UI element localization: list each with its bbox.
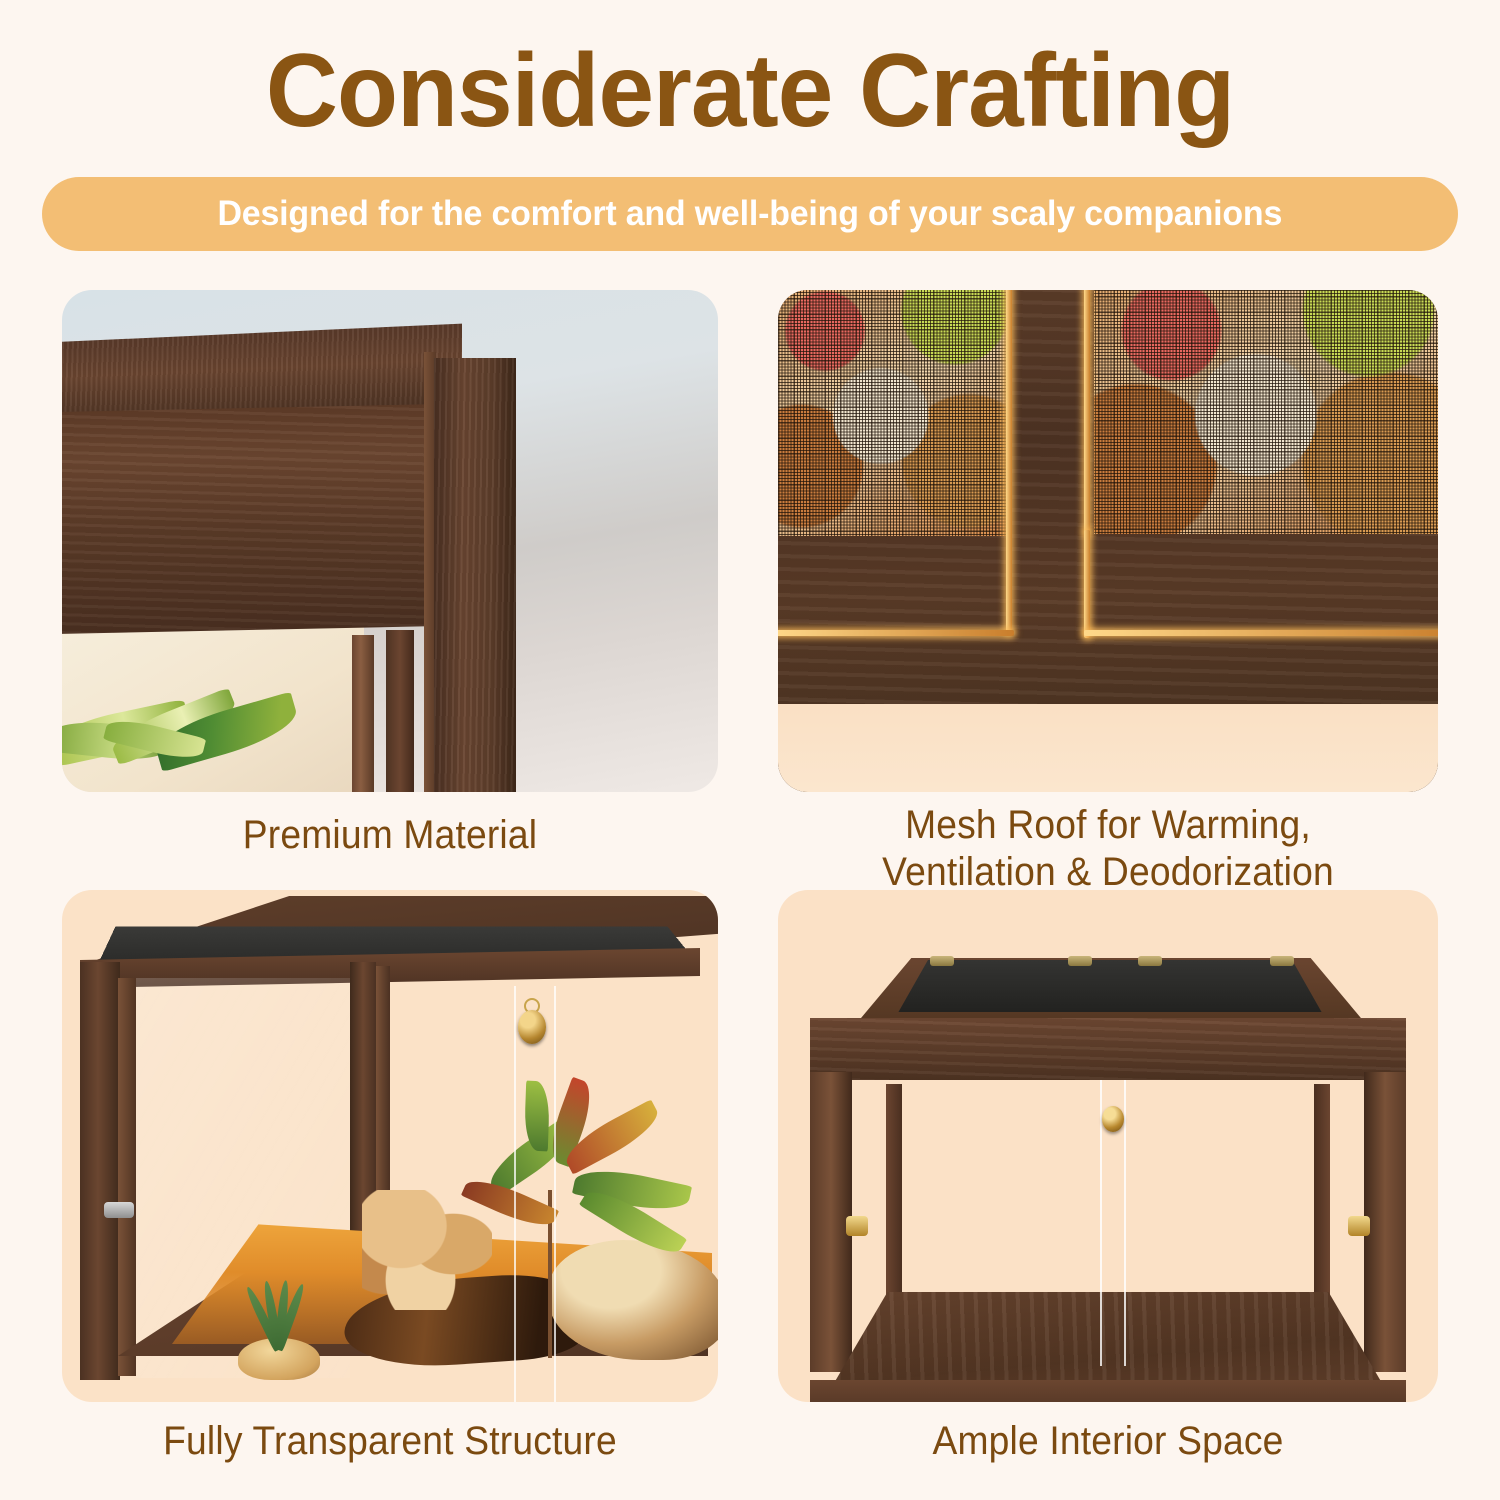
caption-mesh-roof: Mesh Roof for Warming, Ventilation & Deo…: [801, 802, 1415, 896]
brass-latch-left-icon: [846, 1216, 868, 1236]
glow-edge-horizontal: [778, 630, 1014, 636]
photo-foreground-floor: [778, 704, 1438, 792]
hinge-icon: [1270, 956, 1294, 966]
glow-edge-horizontal: [1084, 630, 1438, 636]
feature-card-mesh-roof: Mesh Roof for Warming, Ventilation & Deo…: [778, 290, 1438, 792]
glow-edge-vertical: [1006, 290, 1012, 634]
brass-knob-icon: [518, 1010, 546, 1044]
caption-premium-material: Premium Material: [85, 812, 695, 859]
wood-inner-leg-secondary: [386, 630, 414, 792]
wood-inner-leg: [352, 635, 374, 792]
succulent-plant: [248, 1282, 308, 1364]
hinge-icon: [1138, 956, 1162, 966]
glow-edge-vertical: [1084, 530, 1090, 638]
cabinet-top-front-rail: [810, 1018, 1406, 1080]
glow-edge-vertical: [1084, 290, 1090, 534]
terrarium-left-inner-post: [118, 978, 136, 1376]
terrarium-cabinet: [812, 962, 1404, 1402]
feature-card-transparent-structure: Fully Transparent Structure: [62, 890, 718, 1402]
wood-corner-post: [434, 358, 516, 792]
caption-line-1: Mesh Roof for Warming,: [801, 802, 1415, 849]
caption-interior-space: Ample Interior Space: [801, 1418, 1415, 1465]
brass-knob-icon: [1102, 1106, 1124, 1132]
dried-foliage-decor: [362, 1190, 492, 1310]
wood-front-board: [62, 404, 440, 634]
cabinet-right-post: [1364, 1072, 1406, 1372]
caption-transparent-structure: Fully Transparent Structure: [85, 1418, 695, 1465]
premium-material-photo: [62, 290, 718, 792]
glass-door-edge: [514, 986, 516, 1402]
interior-space-photo: [778, 890, 1438, 1402]
brass-latch-right-icon: [1348, 1216, 1370, 1236]
mesh-screen-panel-left: [778, 290, 1006, 536]
transparent-structure-photo: [62, 890, 718, 1402]
feature-card-premium-material: Premium Material: [62, 290, 718, 792]
cabinet-base-rail: [810, 1380, 1406, 1402]
cabinet-mesh-lid: [864, 960, 1356, 1012]
hinge-icon: [1068, 956, 1092, 966]
terrarium-left-post: [80, 962, 120, 1380]
mesh-screen-panel-right: [1094, 290, 1438, 534]
mesh-roof-photo: [778, 290, 1438, 792]
page-title: Considerate Crafting: [30, 34, 1470, 148]
feature-card-interior-space: Ample Interior Space: [778, 890, 1438, 1402]
glass-door-edge: [554, 986, 556, 1402]
glass-door-edge: [1124, 1080, 1126, 1366]
subtitle-text: Designed for the comfort and well-being …: [218, 194, 1283, 234]
hinge-icon: [930, 956, 954, 966]
subtitle-banner: Designed for the comfort and well-being …: [42, 177, 1458, 251]
hinge-icon: [104, 1202, 134, 1218]
